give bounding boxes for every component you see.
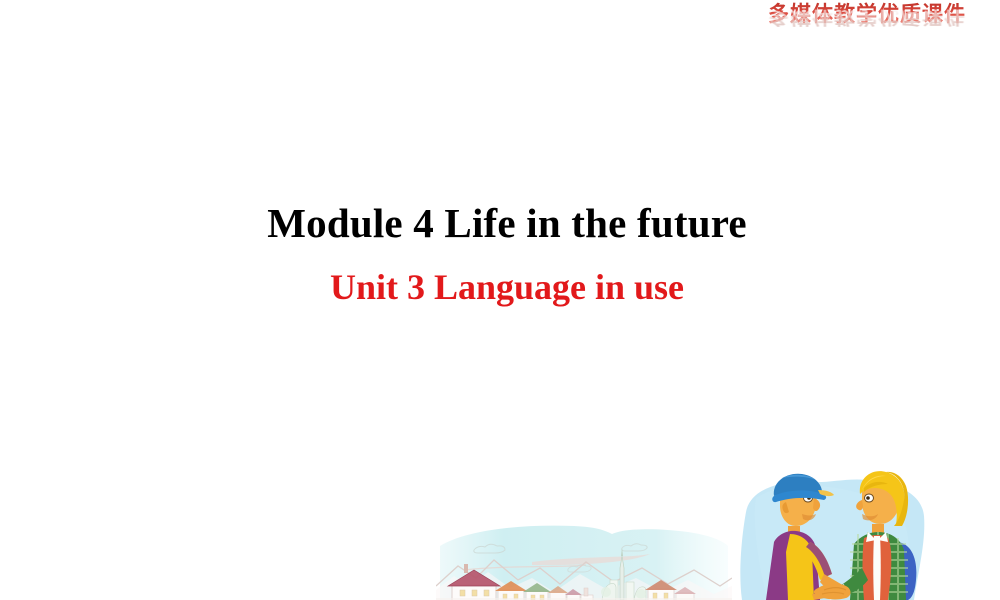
kids-svg	[726, 468, 942, 600]
title-block: Module 4 Life in the future Unit 3 Langu…	[0, 198, 1000, 310]
window	[484, 590, 489, 596]
tree-icon	[601, 587, 611, 597]
chimney	[464, 564, 468, 573]
page-subtitle: Unit 3 Language in use	[14, 264, 1000, 310]
page-title: Module 4 Life in the future	[14, 198, 1000, 248]
window	[460, 590, 465, 596]
watermark-reflection-text: 多媒体教学优质课件	[742, 8, 992, 27]
watermark: 多媒体教学优质课件 多媒体教学优质课件	[742, 2, 992, 50]
tree-icon	[636, 589, 646, 599]
window	[472, 590, 477, 596]
two-children-shaking-hands-illustration	[726, 468, 942, 600]
girl-shirt-placket	[873, 536, 881, 600]
village-townscape-illustration	[436, 518, 732, 600]
village-svg	[436, 518, 732, 600]
church-spire	[620, 556, 624, 600]
presentation-slide: 多媒体教学优质课件 多媒体教学优质课件 Module 4 Life in the…	[0, 0, 1000, 600]
